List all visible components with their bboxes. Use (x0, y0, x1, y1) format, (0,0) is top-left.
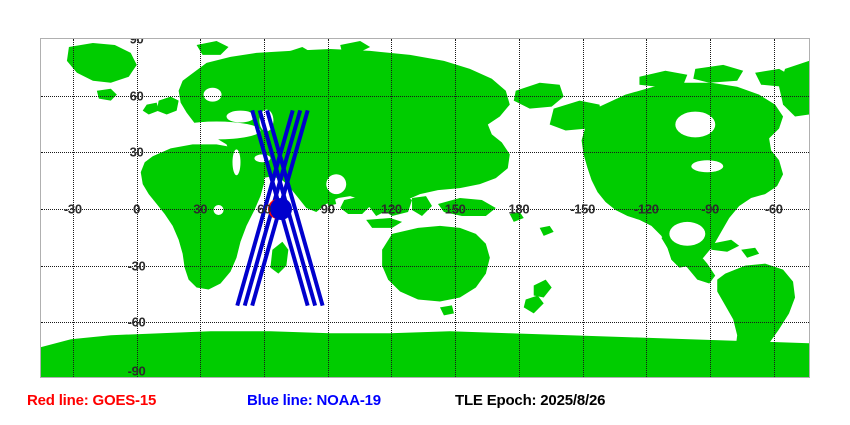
svalbard (197, 41, 229, 55)
lon-tick-180: 180 (508, 202, 529, 217)
lat-tick-0: 0 (133, 202, 140, 217)
caspian-sea (259, 110, 273, 132)
lon-tick--30: -30 (64, 202, 82, 217)
red-sea (233, 149, 241, 175)
asia-right-wrap (514, 83, 564, 109)
lat-tick--90: -90 (128, 364, 146, 379)
sulawesi (412, 196, 432, 216)
greenland (67, 43, 137, 83)
tasmania (440, 305, 454, 315)
new-zealand-south (524, 295, 544, 313)
iceland (97, 89, 117, 101)
lon-tick-120: 120 (381, 202, 402, 217)
gulf-of-mexico (669, 222, 705, 246)
ground-track-figure: -30 0 30 60 90 120 150 180 -150 -120 -90… (0, 0, 850, 425)
hispaniola (741, 248, 759, 258)
lon-tick-60: 60 (257, 202, 271, 217)
lon-tick-30: 30 (193, 202, 207, 217)
legend-blue-line: Blue line: NOAA-19 (247, 392, 381, 409)
lat-tick-30: 30 (130, 145, 144, 160)
arctic-islands-b (693, 65, 743, 83)
ireland (143, 103, 159, 115)
madagascar (270, 242, 288, 274)
legend-tle-epoch: TLE Epoch: 2025/8/26 (455, 392, 605, 409)
persian-gulf (254, 154, 270, 162)
great-lakes (691, 160, 723, 172)
lat-tick--30: -30 (128, 258, 146, 273)
lon-tick-150: 150 (445, 202, 466, 217)
world-land-layer (41, 39, 809, 377)
mediterranean (173, 122, 261, 140)
landmass-group (41, 41, 809, 377)
lon-tick--90: -90 (701, 202, 719, 217)
baltic-sea (204, 88, 222, 102)
british-isles (157, 97, 179, 115)
lon-tick-90: 90 (321, 202, 335, 217)
arctic-islands-a (639, 71, 687, 87)
hudson-bay (675, 112, 715, 138)
lon-tick--120: -120 (634, 202, 659, 217)
greenland-east (779, 61, 809, 117)
lon-tick--60: -60 (765, 202, 783, 217)
java (366, 218, 402, 228)
noaa19-position-marker (270, 198, 292, 220)
lat-tick-60: 60 (130, 88, 144, 103)
australia (382, 226, 490, 302)
lat-tick-90: 90 (130, 38, 144, 47)
new-zealand (534, 280, 552, 298)
lat-tick--60: -60 (128, 315, 146, 330)
pacific-island-b (540, 226, 554, 236)
figure-legend: Red line: GOES-15 Blue line: NOAA-19 TLE… (0, 392, 850, 420)
antarctica (41, 331, 809, 377)
bay-of-bengal (326, 174, 346, 194)
lake-victoria (214, 205, 224, 215)
black-sea (227, 111, 255, 123)
map-plot-area: -30 0 30 60 90 120 150 180 -150 -120 -90… (40, 38, 810, 378)
legend-red-line: Red line: GOES-15 (27, 392, 156, 409)
lon-tick--150: -150 (570, 202, 595, 217)
